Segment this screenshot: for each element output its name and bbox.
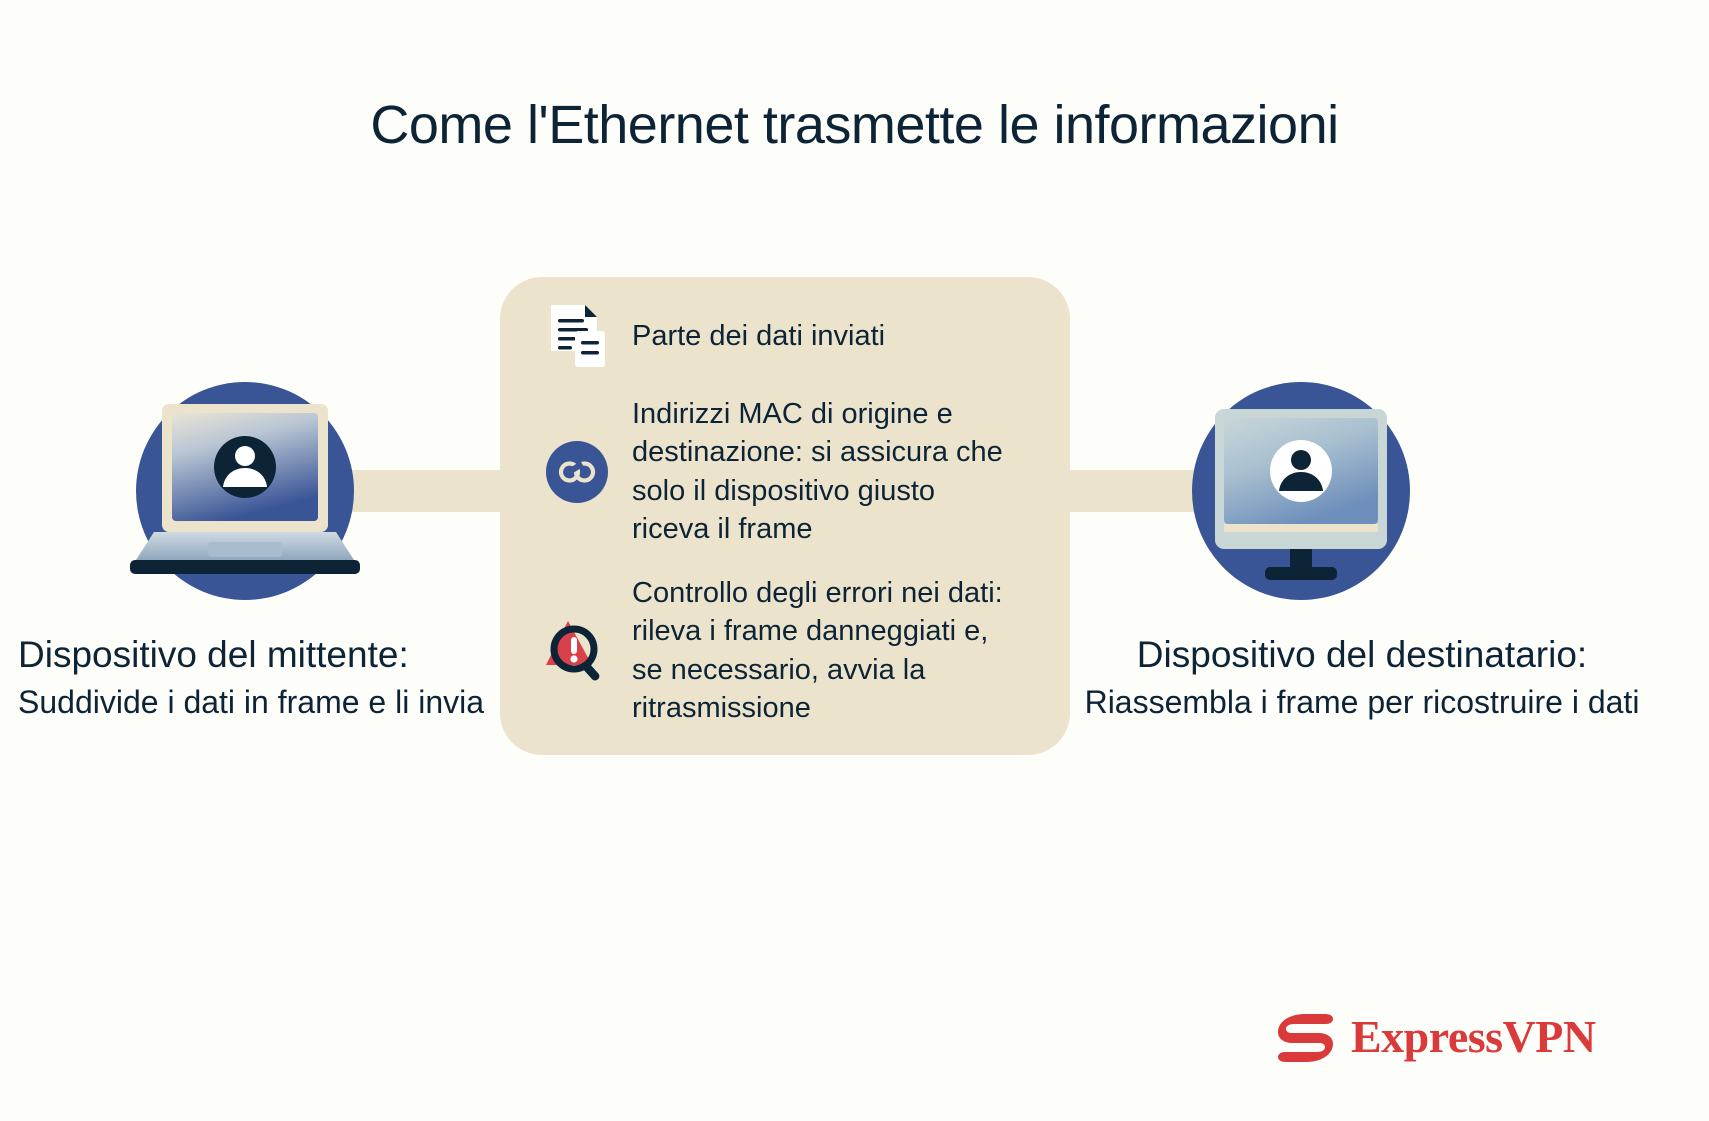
receiver-body: Riassembla i frame per ricostruire i dat… (1082, 683, 1642, 722)
error-alert-icon (544, 617, 610, 685)
monitor-user-icon (1191, 391, 1411, 591)
link-icon-circle (546, 441, 608, 503)
sender-device-graphic (136, 382, 354, 600)
sender-caption: Dispositivo del mittente: Suddivide i da… (18, 634, 488, 722)
panel-row-label: Parte dei dati inviati (632, 317, 885, 355)
receiver-headline: Dispositivo del destinatario: (1082, 634, 1642, 675)
document-icon-wrapper (544, 303, 610, 369)
frame-contents-panel: Parte dei dati inviati Indirizzi MAC di … (500, 277, 1070, 755)
sender-body: Suddivide i dati in frame e li invia (18, 683, 488, 722)
link-icon (557, 458, 597, 486)
page-title: Come l'Ethernet trasmette le informazion… (0, 96, 1709, 155)
link-icon-wrapper (544, 439, 610, 505)
panel-row-label: Indirizzi MAC di origine e destinazione:… (632, 395, 1012, 548)
expressvpn-mark-icon (1275, 1011, 1337, 1063)
panel-row-data-part: Parte dei dati inviati (544, 303, 1044, 369)
document-icon (547, 303, 607, 369)
panel-row-error-check: Controllo degli errori nei dati: rileva … (544, 574, 1044, 727)
laptop-user-icon (120, 386, 370, 596)
expressvpn-wordmark: ExpressVPN (1351, 1014, 1596, 1060)
expressvpn-logo: ExpressVPN (1275, 1011, 1596, 1063)
receiver-device-graphic (1192, 382, 1410, 600)
sender-headline: Dispositivo del mittente: (18, 634, 488, 675)
panel-row-mac-addresses: Indirizzi MAC di origine e destinazione:… (544, 395, 1044, 548)
panel-row-label: Controllo degli errori nei dati: rileva … (632, 574, 1012, 727)
error-alert-icon-wrapper (544, 618, 610, 684)
receiver-caption: Dispositivo del destinatario: Riassembla… (1082, 634, 1642, 722)
